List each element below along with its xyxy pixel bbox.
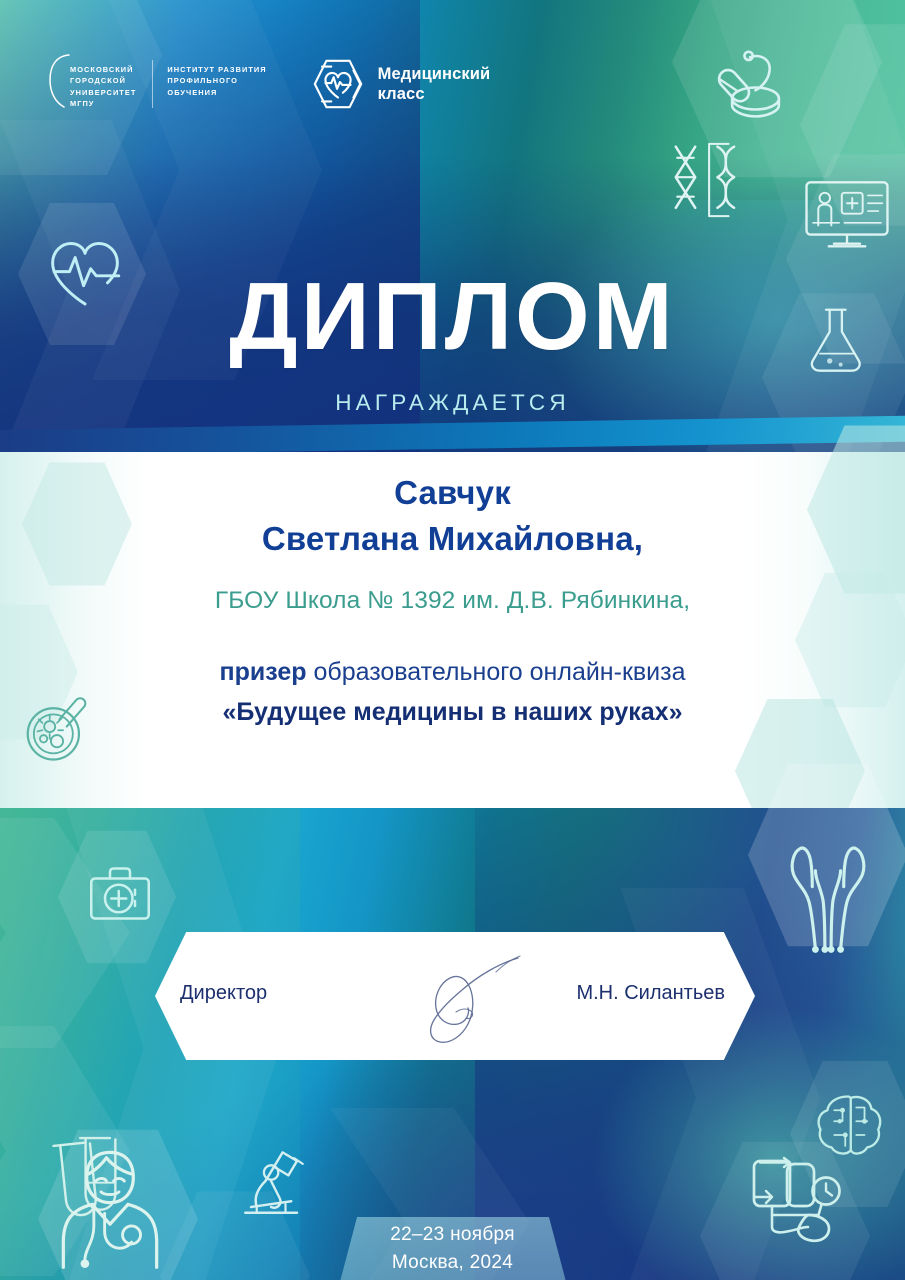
institute-name: ИНСТИТУТ РАЗВИТИЯ ПРОФИЛЬНОГО ОБУЧЕНИЯ: [167, 52, 266, 98]
footer-text: 22–23 ноября Москва, 2024: [0, 1221, 905, 1276]
recipient-block: Савчук Светлана Михайловна, ГБОУ Школа №…: [0, 470, 905, 618]
footer-place-year: Москва, 2024: [0, 1249, 905, 1277]
mgpu-arc-icon: [48, 52, 70, 112]
institute-line-1: ИНСТИТУТ РАЗВИТИЯ: [167, 64, 266, 75]
medical-class-label: Медицинский класс: [378, 64, 491, 104]
award-event-title: «Будущее медицины в наших руках»: [0, 695, 905, 730]
medical-class-logo: Медицинский класс: [309, 52, 491, 113]
award-event-type: образовательного онлайн-квиза: [313, 658, 685, 686]
mgpu-logo: МОСКОВСКИЙ ГОРОДСКОЙ УНИВЕРСИТЕТ МГПУ: [48, 52, 136, 112]
caring-hands-icon: [762, 830, 894, 962]
institute-line-3: ОБУЧЕНИЯ: [167, 87, 266, 98]
pills-stethoscope-icon: [706, 38, 794, 126]
first-aid-kit-icon: [80, 856, 160, 936]
award-description: призер образовательного онлайн-квиза: [0, 655, 905, 690]
page-subtitle: НАГРАЖДАЕТСЯ: [0, 390, 905, 416]
telemedicine-monitor-icon: [800, 168, 894, 262]
header-logos: МОСКОВСКИЙ ГОРОДСКОЙ УНИВЕРСИТЕТ МГПУ ИН…: [48, 52, 490, 113]
award-place: призер: [220, 658, 307, 686]
dna-chromosome-icon: [648, 130, 748, 230]
mgpu-line-2: ГОРОДСКОЙ: [70, 75, 136, 86]
signature-panel: Директор М.Н. Силантьев: [155, 932, 755, 1060]
mgpu-line-4: МГПУ: [70, 98, 136, 109]
mgpu-line-1: МОСКОВСКИЙ: [70, 64, 136, 75]
recipient-given-name: Светлана Михайловна,: [0, 516, 905, 562]
mgpu-line-3: УНИВЕРСИТЕТ: [70, 87, 136, 98]
footer-dates: 22–23 ноября: [0, 1221, 905, 1249]
recipient-surname: Савчук: [0, 470, 905, 516]
signature-role: Директор: [180, 980, 380, 1006]
logo-divider: [152, 60, 153, 108]
recipient-school: ГБОУ Школа № 1392 им. Д.В. Рябинкина,: [0, 584, 905, 618]
medical-class-line-1: Медицинский: [378, 64, 491, 84]
page-title: ДИПЛОМ: [0, 268, 905, 366]
institute-line-2: ПРОФИЛЬНОГО: [167, 75, 266, 86]
microscope-icon: [228, 1138, 320, 1230]
mgpu-logo-text: МОСКОВСКИЙ ГОРОДСКОЙ УНИВЕРСИТЕТ МГПУ: [70, 52, 136, 110]
certificate-page: МОСКОВСКИЙ ГОРОДСКОЙ УНИВЕРСИТЕТ МГПУ ИН…: [0, 0, 905, 1280]
medical-class-line-2: класс: [378, 84, 491, 104]
signature-name: М.Н. Силантьев: [465, 980, 725, 1006]
medical-class-hexagon-heart-icon: [309, 55, 367, 113]
award-block: призер образовательного онлайн-квиза «Бу…: [0, 655, 905, 730]
